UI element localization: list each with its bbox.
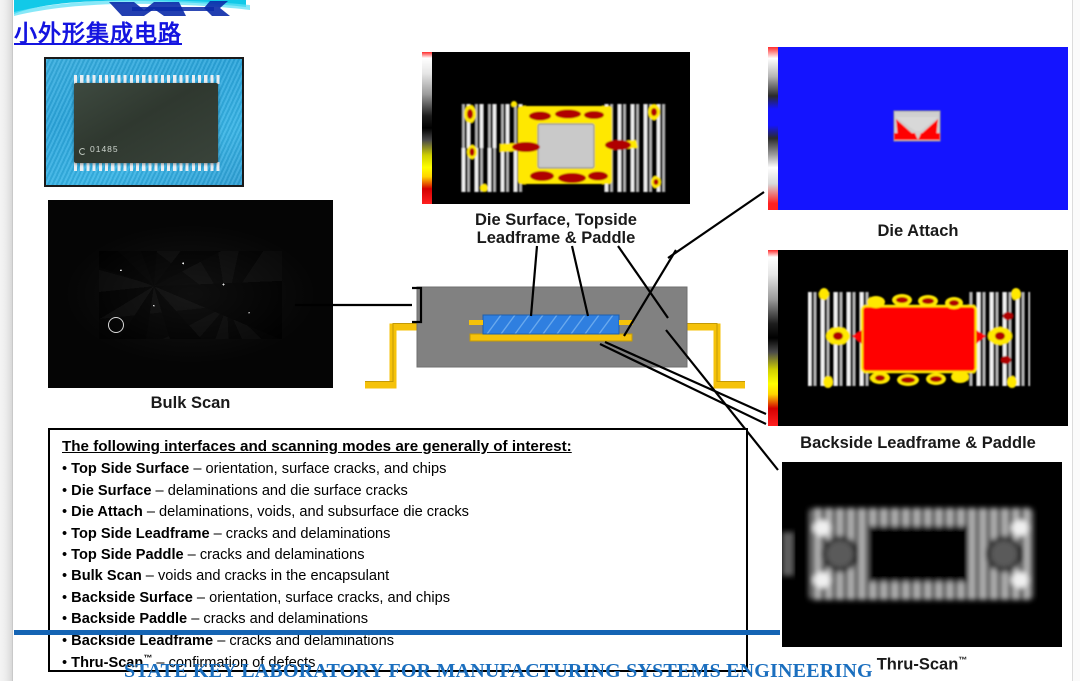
die-attach-colorbar — [768, 47, 778, 210]
caption-line-2: Leadframe & Paddle — [477, 229, 636, 247]
die-surface-image — [422, 52, 690, 204]
package-body: 01485 — [74, 83, 218, 163]
info-line-3: • Top Side Leadframe – cracks and delami… — [62, 524, 734, 545]
csam-colorbar — [422, 52, 432, 204]
info-line-7: • Backside Paddle – cracks and delaminat… — [62, 609, 734, 630]
slide-page: 小外形集成电路 01485 Bulk Scan — [0, 0, 1080, 681]
backside-leadframe-image — [768, 250, 1068, 426]
die-attach-image — [768, 47, 1068, 210]
thru-scan-artwork — [782, 462, 1062, 647]
info-line-5: • Bulk Scan – voids and cracks in the en… — [62, 566, 734, 587]
caption-die-surface: Die Surface, Topside Leadframe & Paddle — [422, 211, 690, 248]
left-gutter — [0, 0, 13, 681]
caption-bulk-scan: Bulk Scan — [48, 394, 333, 413]
info-line-6: • Backside Surface – orientation, surfac… — [62, 588, 734, 609]
caption-backside-leadframe: Backside Leadframe & Paddle — [768, 434, 1068, 453]
die-attach-artwork — [768, 47, 1068, 210]
backside-artwork — [768, 250, 1068, 426]
interfaces-info-box: The following interfaces and scanning mo… — [48, 428, 748, 672]
topside-package-photo: 01485 — [44, 57, 244, 187]
footer-text: STATE KEY LABORATORY FOR MANUFACTURING S… — [124, 660, 1024, 681]
info-line-2: • Die Attach – delaminations, voids, and… — [62, 502, 734, 523]
pin1-dot-icon — [79, 148, 86, 155]
package-marking: 01485 — [90, 144, 119, 154]
thru-scan-image — [782, 462, 1062, 647]
info-line-1: • Die Surface – delaminations and die su… — [62, 481, 734, 502]
die-surface-artwork — [422, 52, 690, 204]
info-line-0: • Top Side Surface – orientation, surfac… — [62, 459, 734, 480]
bulk-scan-image — [48, 200, 333, 388]
info-line-4: • Top Side Paddle – cracks and delaminat… — [62, 545, 734, 566]
bulk-scan-glow — [48, 200, 333, 388]
package-pins-bottom — [74, 162, 220, 171]
right-gutter — [1072, 0, 1080, 681]
caption-line-1: Die Surface, Topside — [475, 211, 637, 229]
page-title: 小外形集成电路 — [14, 14, 182, 48]
package-cross-section-diagram — [355, 282, 755, 402]
info-box-heading: The following interfaces and scanning mo… — [62, 438, 734, 456]
footer-rule — [14, 630, 780, 635]
caption-die-attach: Die Attach — [768, 222, 1068, 241]
backside-colorbar — [768, 250, 778, 426]
